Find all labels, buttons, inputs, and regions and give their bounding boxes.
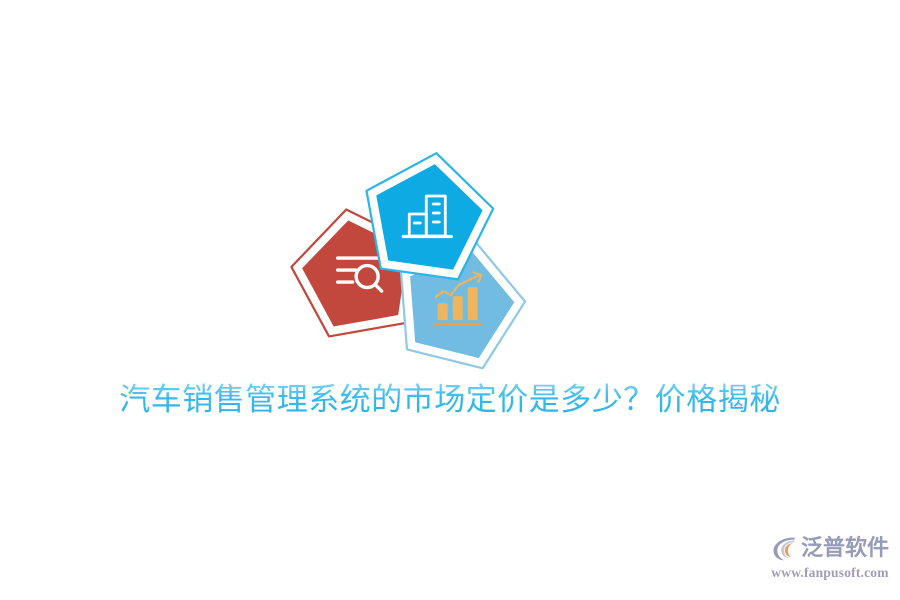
watermark-url-text: www.fanpusoft.com xyxy=(771,565,888,581)
chart-bar-2 xyxy=(453,296,463,320)
fanpu-swoosh-logo-icon xyxy=(771,535,798,562)
page-canvas: 汽车销售管理系统的市场定价是多少？价格揭秘 泛普软件 www.fanpusoft… xyxy=(0,0,900,600)
chart-bar-3 xyxy=(468,287,478,320)
watermark: 泛普软件 www.fanpusoft.com xyxy=(768,532,892,588)
hero-pentagon-cluster xyxy=(285,150,535,375)
watermark-brand-text: 泛普软件 xyxy=(801,536,889,560)
page-title: 汽车销售管理系统的市场定价是多少？价格揭秘 xyxy=(0,378,900,422)
watermark-brand-row: 泛普软件 xyxy=(771,532,889,564)
chart-bar-1 xyxy=(438,303,448,320)
